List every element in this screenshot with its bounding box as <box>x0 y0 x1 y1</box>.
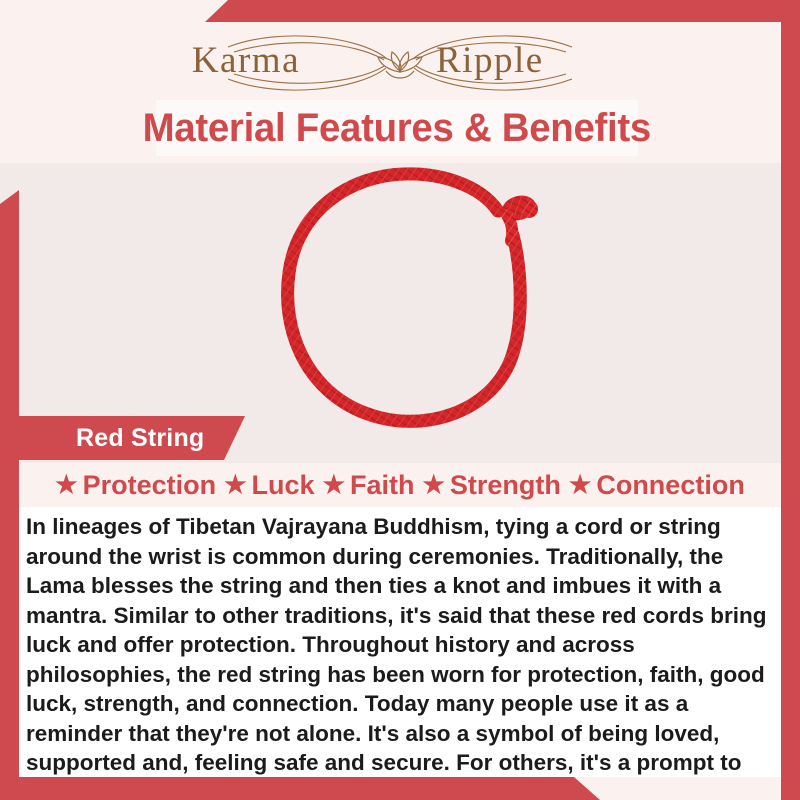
benefit-label: Connection <box>596 470 745 501</box>
page-title: Material Features & Benefits <box>143 106 651 151</box>
benefit-item-strength: ★ Strength <box>418 470 564 501</box>
star-icon: ★ <box>422 473 444 498</box>
benefit-item-protection: ★ Protection <box>51 470 220 501</box>
frame-right-accent <box>781 0 800 800</box>
material-tag-label: Red String <box>76 424 204 453</box>
benefit-item-connection: ★ Connection <box>565 470 749 501</box>
star-icon: ★ <box>55 473 77 498</box>
benefit-label: Strength <box>450 470 561 501</box>
benefit-label: Protection <box>83 470 217 501</box>
benefit-item-luck: ★ Luck <box>220 470 318 501</box>
benefit-item-faith: ★ Faith <box>319 470 419 501</box>
brand-logo-svg: Karma Ripple <box>190 30 610 96</box>
page-title-band: Material Features & Benefits <box>156 100 638 156</box>
star-icon: ★ <box>323 473 345 498</box>
brand-logo: Karma Ripple <box>0 30 800 96</box>
benefit-label: Luck <box>252 470 315 501</box>
brand-name-right: Ripple <box>436 40 544 81</box>
brand-name-left: Karma <box>192 40 300 81</box>
red-string-bracelet-image <box>245 163 580 448</box>
frame-top-accent <box>0 0 800 22</box>
material-tag: Red String <box>19 416 245 460</box>
star-icon: ★ <box>569 473 591 498</box>
infographic-card: Karma Ripple Material Features & Benefit… <box>0 0 800 800</box>
star-icon: ★ <box>224 473 246 498</box>
lotus-icon <box>378 52 422 78</box>
benefit-label: Faith <box>350 470 415 501</box>
description-panel: In lineages of Tibetan Vajrayana Buddhis… <box>19 507 781 777</box>
frame-left-accent <box>0 190 19 800</box>
description-text: In lineages of Tibetan Vajrayana Buddhis… <box>26 512 773 800</box>
benefits-row: ★ Protection ★ Luck ★ Faith ★ Strength ★… <box>19 463 781 507</box>
